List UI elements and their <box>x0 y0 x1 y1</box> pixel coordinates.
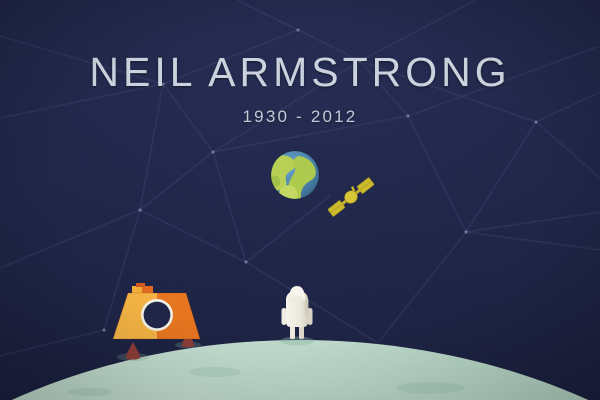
earth-planet <box>266 151 319 203</box>
scene-illustration <box>0 0 600 400</box>
astronaut-figure <box>280 286 314 346</box>
moon-surface <box>0 340 600 400</box>
poster-canvas: NEIL ARMSTRONG 1930 - 2012 <box>0 0 600 400</box>
satellite <box>326 175 375 218</box>
